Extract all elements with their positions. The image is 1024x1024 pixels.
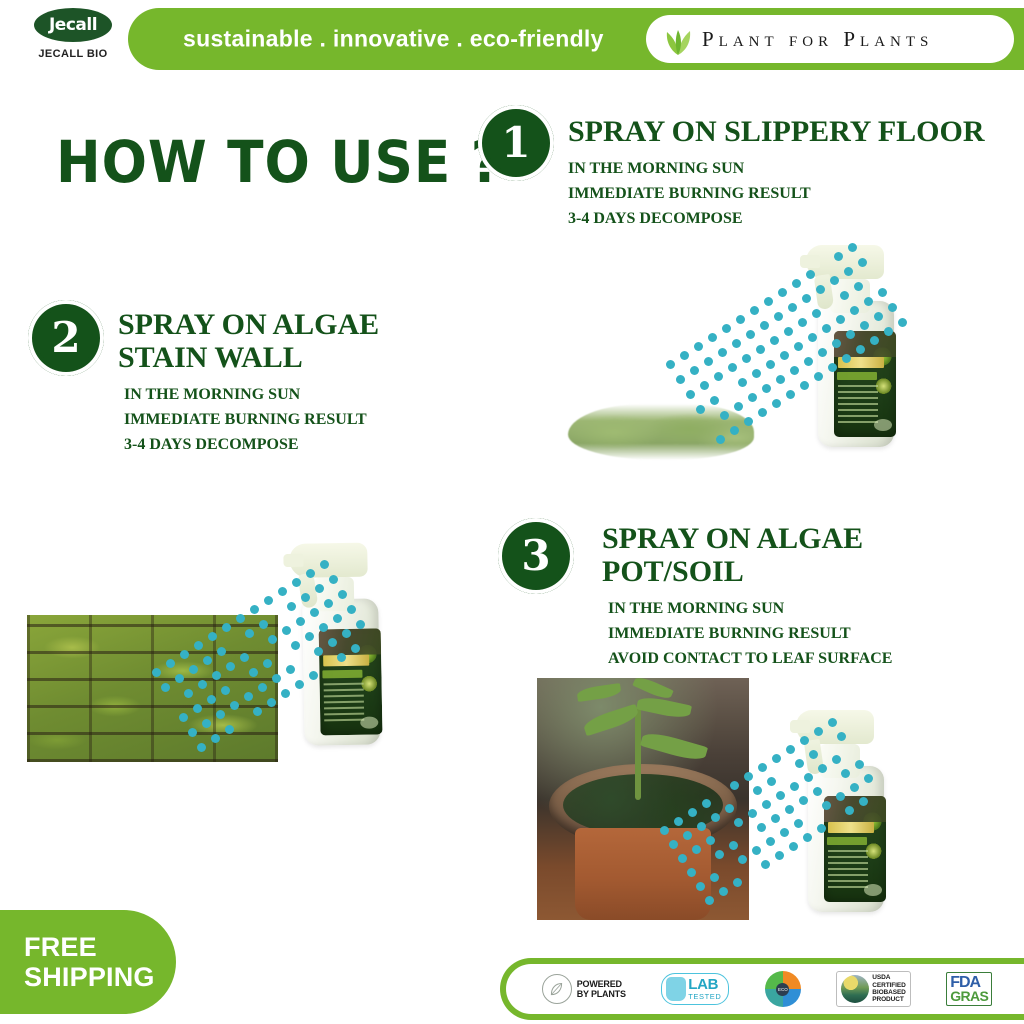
leaf-icon [662,22,694,56]
leaf-icon [548,981,565,998]
bottle-label-seal-icon [864,884,882,896]
step-3-details: IN THE MORNING SUN IMMEDIATE BURNING RES… [608,597,1024,671]
spray-dots-step-1 [648,243,848,383]
step-1-details: IN THE MORNING SUN IMMEDIATE BURNING RES… [568,157,1024,231]
step-1-body: SPRAY ON SLIPPERY FLOOR IN THE MORNING S… [568,115,1024,231]
bottle-label-accent-band [827,837,867,845]
header-bar: Jecall JECALL BIO sustainable . innovati… [0,0,1024,80]
bottle-label-accent-band [322,670,362,679]
step-3-detail-line: AVOID CONTACT TO LEAF SURFACE [608,647,1024,672]
leaf-outline-icon [542,974,572,1004]
bottle-label-text-lines [324,683,365,726]
step-2-heading: SPRAY ON ALGAE STAIN WALL [118,308,478,374]
cert-eco-cycle: ECO [765,971,801,1007]
step-2-number-badge: 2 [28,300,104,376]
infographic-page: Jecall JECALL BIO sustainable . innovati… [0,0,1024,1024]
step-3-body: SPRAY ON ALGAE POT/SOIL IN THE MORNING S… [602,522,1024,671]
step-3-number: 3 [521,535,550,577]
jecall-logo: Jecall JECALL BIO [18,8,128,74]
bottle-label-title-bar [323,655,369,667]
step-2-detail-line: IN THE MORNING SUN [124,383,478,408]
eco-cycle-icon: ECO [765,971,801,1007]
plant-for-plants-badge: Plant for Plants [646,15,1014,63]
step-3-detail-line: IMMEDIATE BURNING RESULT [608,622,1024,647]
free-shipping-line-1: FREE [24,932,176,962]
page-title: HOW TO USE ? [56,128,503,196]
cert-usda-biobased: USDA CERTIFIED BIOBASED PRODUCT [836,971,911,1007]
cert-eco-cycle-label: ECO [776,983,789,996]
tagline-text: sustainable . innovative . eco-friendly [183,26,604,53]
bottle-label-seal-icon [874,419,892,431]
hand-holding-vial-icon [666,977,686,1001]
plant-leaf [636,695,692,721]
step-2-detail-line: IMMEDIATE BURNING RESULT [124,408,478,433]
jecall-logo-subtitle: JECALL BIO [18,48,128,60]
tagline-banner: sustainable . innovative . eco-friendly … [128,8,1024,70]
cert-usda-biobased-label: USDA CERTIFIED BIOBASED PRODUCT [872,974,906,1004]
step-3-number-badge: 3 [498,518,574,594]
bottle-label [824,796,886,902]
step-2-details: IN THE MORNING SUN IMMEDIATE BURNING RES… [124,383,478,457]
step-1-detail-line: IN THE MORNING SUN [568,157,1024,182]
plant-for-plants-label: Plant for Plants [702,27,933,52]
bottle-label-text-lines [838,385,878,427]
step-2-body: SPRAY ON ALGAE STAIN WALL IN THE MORNING… [118,308,478,457]
free-shipping-badge: FREE SHIPPING [0,910,176,1014]
spray-dots-step-3 [628,718,828,848]
cert-lab-tested-label-main: LAB [688,978,721,992]
step-2-number: 2 [51,317,80,359]
step-1-detail-line: IMMEDIATE BURNING RESULT [568,182,1024,207]
usda-landscape-icon [841,975,869,1003]
cert-powered-by-plants-label: POWERED BY PLANTS [577,979,626,1000]
cert-powered-by-plants: POWERED BY PLANTS [542,974,626,1004]
bottle-label-seal-icon [360,716,378,728]
step-1-detail-line: 3-4 DAYS DECOMPOSE [568,207,1024,232]
step-3-detail-line: IN THE MORNING SUN [608,597,1024,622]
bottle-label-text-lines [828,850,868,892]
cert-fda-gras: FDA GRAS [946,972,992,1006]
bottle-label-photo-strip [824,796,886,822]
cert-fda-gras-label-sub: GRAS [950,990,988,1003]
step-3-heading: SPRAY ON ALGAE POT/SOIL [602,522,1024,588]
step-1-number: 1 [501,122,530,164]
plant-leaf [576,683,621,702]
bottle-label-title-bar [828,822,874,833]
spray-dots-step-2 [120,560,320,700]
certification-bar: POWERED BY PLANTS LAB TESTED ECO USDA CE… [500,958,1024,1020]
jecall-logo-word: Jecall [49,15,97,35]
step-2-detail-line: 3-4 DAYS DECOMPOSE [124,433,478,458]
cert-lab-tested: LAB TESTED [661,973,729,1005]
jecall-logo-mark: Jecall [34,8,112,42]
step-1-number-badge: 1 [478,105,554,181]
step-1-heading: SPRAY ON SLIPPERY FLOOR [568,115,1024,148]
cert-lab-tested-label-sub: TESTED [688,993,721,1000]
free-shipping-line-2: SHIPPING [24,962,176,992]
